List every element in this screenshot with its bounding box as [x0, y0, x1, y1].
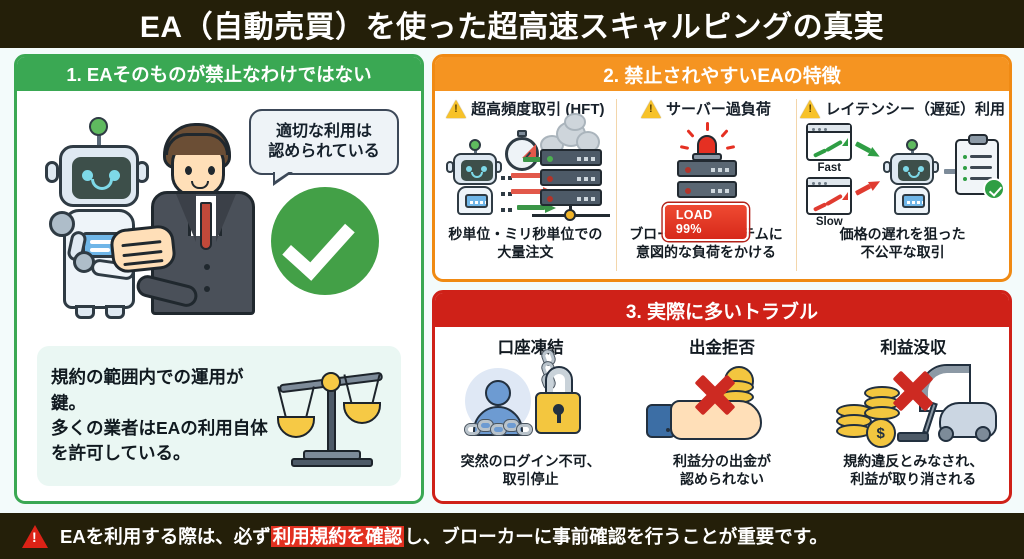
red-x-icon	[686, 366, 742, 422]
green-arrow-icon	[854, 140, 858, 148]
green-check-circle-icon	[271, 187, 379, 295]
latency-arbitrage-illustration: Fast Slow	[800, 123, 1005, 223]
panel3-item-account-freeze: 口座凍結	[435, 327, 626, 501]
panel3-item-profit-confiscation: 利益没収 $	[818, 327, 1009, 501]
red-arrow-icon	[854, 190, 858, 198]
bubble-line-2: 認められている	[268, 142, 380, 162]
infographic-page: EA（自動売買）を使った超高速スキャルピングの真実 1. EAそのものが禁止なわ…	[0, 0, 1024, 559]
handshake-icon	[109, 224, 177, 274]
warning-triangle-icon	[22, 525, 48, 548]
green-check-icon	[983, 178, 1005, 200]
warning-triangle-icon	[800, 100, 820, 118]
slow-label: Slow	[806, 216, 852, 228]
panel2-columns: 超高頻度取引 (HFT)	[435, 91, 1009, 279]
panel3-item-3-title: 利益没収	[880, 334, 946, 358]
panel3-item-2-title: 出金拒否	[689, 334, 755, 358]
panel1-note-box: 規約の範囲内での運用が鍵。 多くの業者はEAの利用自体 を許可している。	[37, 346, 401, 486]
panel2-item-1-caption: 秒単位・ミリ秒単位での 大量注文	[448, 225, 602, 261]
padlock-icon	[535, 392, 581, 434]
hand-coins-red-x-icon	[630, 360, 813, 452]
robot-icon	[884, 141, 942, 215]
panel2-item-3-title: レイテンシー（遅延）利用	[825, 98, 1005, 119]
panel2-header: 2. 禁止されやすいEAの特徴	[435, 57, 1009, 91]
panel3-item-withdrawal-refusal: 出金拒否 利益分の出金が 認められない	[626, 327, 817, 501]
balance-scale-icon	[275, 364, 387, 468]
panel2-item-2-title: サーバー過負荷	[666, 98, 771, 119]
red-x-icon	[884, 362, 940, 418]
vacuum-head-icon	[897, 432, 929, 442]
warning-triangle-icon	[641, 100, 661, 118]
panel2-item-3-caption: 価格の遅れを狙った 不公平な取引	[840, 225, 966, 261]
panel2-item-hft: 超高頻度取引 (HFT)	[435, 91, 616, 279]
fast-chart-window-icon	[806, 123, 852, 161]
panel3-item-1-caption: 突然のログイン不可、 取引停止	[461, 452, 601, 488]
robot-icon	[447, 141, 505, 215]
panel-banned-ea-features: 2. 禁止されやすいEAの特徴 超高頻度取引 (HFT)	[432, 54, 1012, 282]
warning-triangle-icon	[446, 100, 466, 118]
panel2-item-2-header: サーバー過負荷	[641, 98, 771, 119]
clipboard-icon	[955, 139, 999, 195]
panel-common-troubles: 3. 実際に多いトラブル 口座凍結	[432, 290, 1012, 504]
load-badge: LOAD 99%	[663, 203, 749, 241]
page-title: EA（自動売買）を使った超高速スキャルピングの真実	[140, 2, 884, 46]
speech-bubble: 適切な利用は 認められている	[249, 109, 399, 175]
footer-text-after: し、ブローカーに事前確認を行うことが重要です。	[404, 526, 828, 547]
chain-icon	[465, 418, 539, 438]
panel-ea-not-banned: 1. EAそのものが禁止なわけではない	[14, 54, 424, 504]
footer-highlight: 利用規約を確認	[271, 526, 405, 547]
footer-text-before: EAを利用する際は、必ず	[60, 526, 271, 547]
robot-stopwatch-server-illustration	[439, 123, 612, 223]
panel3-item-3-caption: 規約違反とみなされ、 利益が取り消される	[843, 452, 983, 488]
footer-bar: EAを利用する際は、必ず利用規約を確認し、ブローカーに事前確認を行うことが重要で…	[0, 513, 1024, 559]
panel2-item-latency: レイテンシー（遅延）利用 Fast Slow	[796, 91, 1009, 279]
bubble-line-1: 適切な利用は	[276, 122, 372, 142]
slow-chart-window-icon	[806, 177, 852, 215]
coins-vacuum-red-x-icon: $	[822, 360, 1005, 452]
panel1-body: 適切な利用は 認められている 規約の範囲内での運用が鍵。 多くの業者はEAの利用…	[17, 91, 421, 502]
panel1-header: 1. EAそのものが禁止なわけではない	[17, 57, 421, 91]
dollar-coin-icon: $	[866, 418, 896, 448]
vacuum-body-icon	[939, 402, 997, 438]
user-chain-padlock-icon	[439, 360, 622, 452]
footer-text: EAを利用する際は、必ず利用規約を確認し、ブローカーに事前確認を行うことが重要で…	[60, 523, 828, 549]
panel2-item-3-header: レイテンシー（遅延）利用	[800, 98, 1005, 119]
panel3-item-2-caption: 利益分の出金が 認められない	[673, 452, 771, 488]
fast-label: Fast	[806, 162, 852, 174]
title-bar: EA（自動売買）を使った超高速スキャルピングの真実	[0, 0, 1024, 48]
panel3-header: 3. 実際に多いトラブル	[435, 293, 1009, 327]
server-alarm-illustration: LOAD 99%	[620, 123, 793, 223]
panel1-note-text: 規約の範囲内での運用が鍵。 多くの業者はEAの利用自体 を許可している。	[51, 365, 275, 467]
panel1-illustration: 適切な利用は 認められている	[25, 103, 413, 318]
panel3-columns: 口座凍結	[435, 327, 1009, 501]
panel2-item-server-overload: サーバー過負荷 LOAD 99% ブローカーのシステムに 意図的な負荷をかけ	[616, 91, 797, 279]
server-icon	[540, 149, 602, 215]
